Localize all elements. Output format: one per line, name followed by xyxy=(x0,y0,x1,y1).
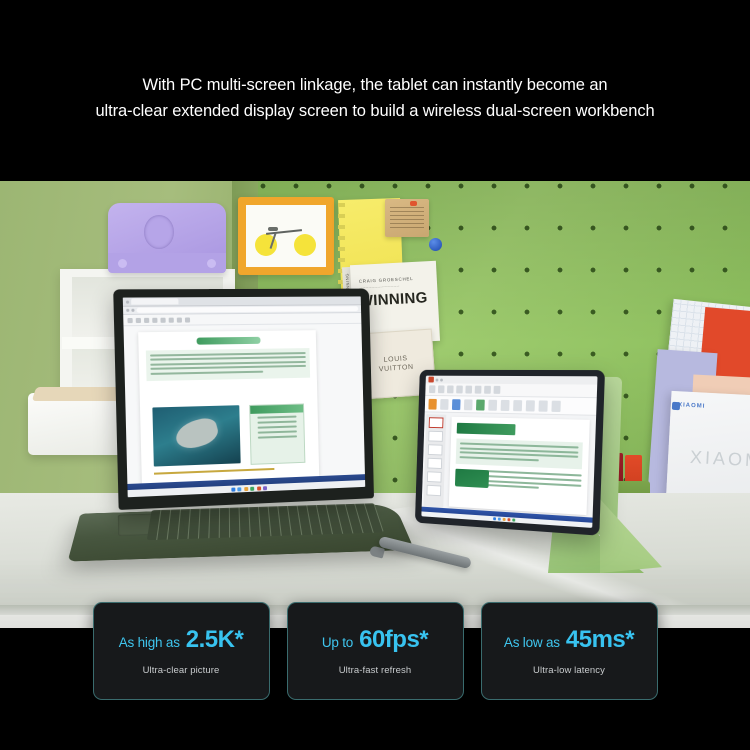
taskbar-start-icon[interactable] xyxy=(493,517,496,520)
seal-shape xyxy=(173,415,221,452)
document-sidebar-card xyxy=(249,403,305,464)
toolbar-icon[interactable] xyxy=(160,317,165,322)
ribbon-icon[interactable] xyxy=(476,399,485,410)
url-field[interactable] xyxy=(137,306,359,313)
toolbar-icon[interactable] xyxy=(127,317,132,322)
titlebar-dot-icon xyxy=(440,378,443,381)
stat-value: 45ms* xyxy=(566,626,634,654)
sidebar-line xyxy=(258,425,297,428)
bicycle-seat xyxy=(268,227,278,231)
slide-thumbnail[interactable] xyxy=(426,485,441,496)
ribbon-tab[interactable] xyxy=(429,385,436,393)
radio-dial xyxy=(144,215,174,249)
underwater-seal-photo xyxy=(152,405,240,466)
headline-banner: With PC multi-screen linkage, the tablet… xyxy=(0,0,750,181)
ribbon-tab[interactable] xyxy=(475,386,482,394)
ribbon-icon[interactable] xyxy=(526,400,535,411)
tablet-device xyxy=(415,370,605,536)
taskbar-folder-icon[interactable] xyxy=(244,486,248,490)
bicycle-wheel-front-icon xyxy=(294,234,316,256)
stat-prefix: As high as xyxy=(119,635,180,650)
stat-description: Ultra-fast refresh xyxy=(339,665,412,676)
sidebar-card-header xyxy=(250,405,303,414)
text-line xyxy=(460,456,539,461)
ribbon-icon[interactable] xyxy=(452,399,461,410)
cork-note-writing xyxy=(390,207,424,229)
stat-value: 2.5K* xyxy=(186,626,244,654)
titlebar-dot-icon xyxy=(436,378,439,381)
stat-card-latency: As low as 45ms* Ultra-low latency xyxy=(481,602,658,700)
presentation-app-icon xyxy=(428,377,434,383)
taskbar-start-icon[interactable] xyxy=(231,487,235,491)
browser-tab[interactable] xyxy=(131,298,178,304)
window-dot-icon xyxy=(126,300,129,303)
toolbar-icon[interactable] xyxy=(136,317,141,322)
forward-arrow-icon[interactable] xyxy=(131,309,134,312)
stat-card-row: As high as 2.5K* Ultra-clear picture Up … xyxy=(0,602,750,702)
stat-headline: Up to 60fps* xyxy=(322,626,428,654)
toolbar-icon[interactable] xyxy=(177,317,182,322)
sidebar-line xyxy=(258,435,297,438)
slide-thumbnail-selected[interactable] xyxy=(429,417,444,428)
ribbon-icon[interactable] xyxy=(488,399,497,410)
text-line xyxy=(150,370,263,374)
slide-thumbnail[interactable] xyxy=(428,444,443,455)
document-heading-banner xyxy=(197,337,261,345)
toolbar-icon[interactable] xyxy=(144,317,149,322)
laptop-document-page xyxy=(138,330,319,485)
ribbon-icon[interactable] xyxy=(539,400,548,411)
ribbon-tab[interactable] xyxy=(494,386,501,394)
taskbar-folder-icon[interactable] xyxy=(502,518,505,521)
product-photo: WINNING CRAIG GROESCHEL ————————————— WI… xyxy=(0,181,750,628)
slide-heading-block xyxy=(457,423,516,436)
taskbar-search-icon[interactable] xyxy=(497,517,500,520)
taskbar-ppt-icon[interactable] xyxy=(257,486,261,490)
stat-description: Ultra-clear picture xyxy=(143,665,220,676)
headline-line-2: ultra-clear extended display screen to b… xyxy=(95,98,654,124)
slide-text-block xyxy=(456,438,583,469)
toolbar-icon[interactable] xyxy=(185,317,190,322)
slide-canvas[interactable] xyxy=(449,417,590,515)
document-caption-line xyxy=(154,468,274,475)
sidebar-line xyxy=(257,421,296,424)
back-arrow-icon[interactable] xyxy=(126,309,129,312)
laptop-screen[interactable] xyxy=(123,296,365,497)
ribbon-icon[interactable] xyxy=(513,400,522,411)
stat-headline: As high as 2.5K* xyxy=(119,626,244,654)
slide-thumbnail-pane[interactable] xyxy=(423,414,446,508)
taskbar-search-icon[interactable] xyxy=(238,487,242,491)
laptop-doc-toolbar[interactable] xyxy=(123,313,361,326)
stat-description: Ultra-low latency xyxy=(533,665,605,676)
ribbon-tab[interactable] xyxy=(447,385,454,393)
document-paragraph xyxy=(146,348,310,381)
ribbon-icon[interactable] xyxy=(501,399,510,410)
book-author-label: CRAIG GROESCHEL xyxy=(359,276,414,284)
toolbar-icon[interactable] xyxy=(152,317,157,322)
cork-note-stamp xyxy=(410,201,417,206)
ribbon-tab[interactable] xyxy=(484,386,491,394)
laptop-lid xyxy=(113,289,374,510)
sidebar-line xyxy=(257,416,296,419)
radio-knob-left xyxy=(118,259,127,268)
ribbon-icon[interactable] xyxy=(428,398,436,409)
slide-green-badge xyxy=(455,469,489,488)
taskbar-ppt-icon[interactable] xyxy=(507,518,510,521)
headline-line-1: With PC multi-screen linkage, the tablet… xyxy=(143,72,608,98)
blue-magnet xyxy=(429,238,442,251)
taskbar-excel-icon[interactable] xyxy=(512,518,515,521)
ribbon-icon[interactable] xyxy=(464,399,473,410)
ribbon-tab[interactable] xyxy=(465,386,472,394)
taskbar-app-icon[interactable] xyxy=(263,486,267,490)
ribbon-icon[interactable] xyxy=(440,399,449,410)
tablet-ribbon-toolbar[interactable] xyxy=(425,396,597,416)
toolbar-icon[interactable] xyxy=(169,317,174,322)
slide-thumbnail[interactable] xyxy=(427,471,442,482)
stat-prefix: As low as xyxy=(504,635,560,650)
stat-value: 60fps* xyxy=(359,626,428,654)
ribbon-tab[interactable] xyxy=(456,386,463,394)
slide-thumbnail[interactable] xyxy=(427,458,442,469)
ribbon-tab[interactable] xyxy=(438,385,445,393)
ribbon-icon[interactable] xyxy=(551,400,560,411)
radio-knob-right xyxy=(207,259,216,268)
slide-thumbnail[interactable] xyxy=(428,431,443,442)
stat-card-resolution: As high as 2.5K* Ultra-clear picture xyxy=(93,602,270,700)
stat-headline: As low as 45ms* xyxy=(504,626,634,654)
sidebar-line xyxy=(258,430,297,433)
text-line xyxy=(150,365,306,370)
taskbar-excel-icon[interactable] xyxy=(250,486,254,490)
stat-card-refresh: Up to 60fps* Ultra-fast refresh xyxy=(287,602,464,700)
tablet-screen[interactable] xyxy=(421,376,597,528)
stat-prefix: Up to xyxy=(322,635,353,650)
